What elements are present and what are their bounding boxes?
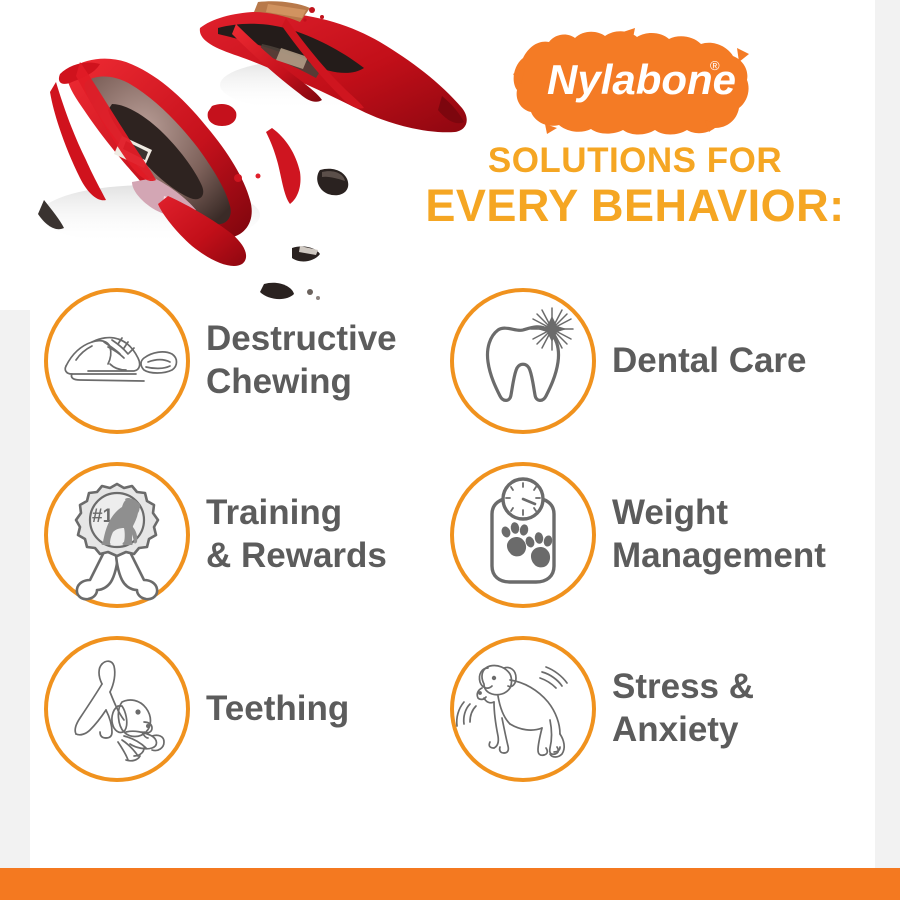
behavior-label: Training & Rewards [206,492,387,577]
logo-wordmark: Nylabone [547,56,736,103]
puppy-chewing-toy-icon [44,636,190,782]
headline-line-1: SOLUTIONS FOR [400,143,870,179]
bottom-orange-bar [0,868,900,900]
behavior-row-3: Teething [0,636,900,810]
nylabone-logo[interactable]: Nylabone ® [505,28,755,138]
paw-scale-icon [450,462,596,608]
behavior-item-training-rewards[interactable]: #1 Training & Rewards [44,462,387,608]
behavior-label: Stress & Anxiety [612,666,754,751]
behavior-item-dental-care[interactable]: Dental Care [450,288,807,434]
chewed-shoe-icon [44,288,190,434]
headline-line-2: EVERY BEHAVIOR: [400,183,870,229]
behavior-item-destructive-chewing[interactable]: Destructive Chewing [44,288,397,434]
sparkling-tooth-icon [450,288,596,434]
behavior-row-1: Destructive Chewing [0,288,900,462]
behavior-item-teething[interactable]: Teething [44,636,349,782]
page-title: SOLUTIONS FOR EVERY BEHAVIOR: [400,143,870,229]
promo-page: Nylabone ® SOLUTIONS FOR EVERY BEHAVIOR: [0,0,900,900]
behavior-label: Destructive Chewing [206,318,397,403]
behavior-list: Destructive Chewing [0,288,900,810]
behavior-label: Teething [206,688,349,731]
behavior-row-2: #1 Training & Rewards [0,462,900,636]
shaking-dog-icon [450,636,596,782]
behavior-label: Weight Management [612,492,826,577]
behavior-item-stress-anxiety[interactable]: Stress & Anxiety [450,636,754,782]
behavior-item-weight-management[interactable]: Weight Management [450,462,826,608]
award-rosette-dog-icon: #1 [44,462,190,608]
logo-registered-mark: ® [710,58,720,73]
behavior-label: Dental Care [612,340,807,383]
